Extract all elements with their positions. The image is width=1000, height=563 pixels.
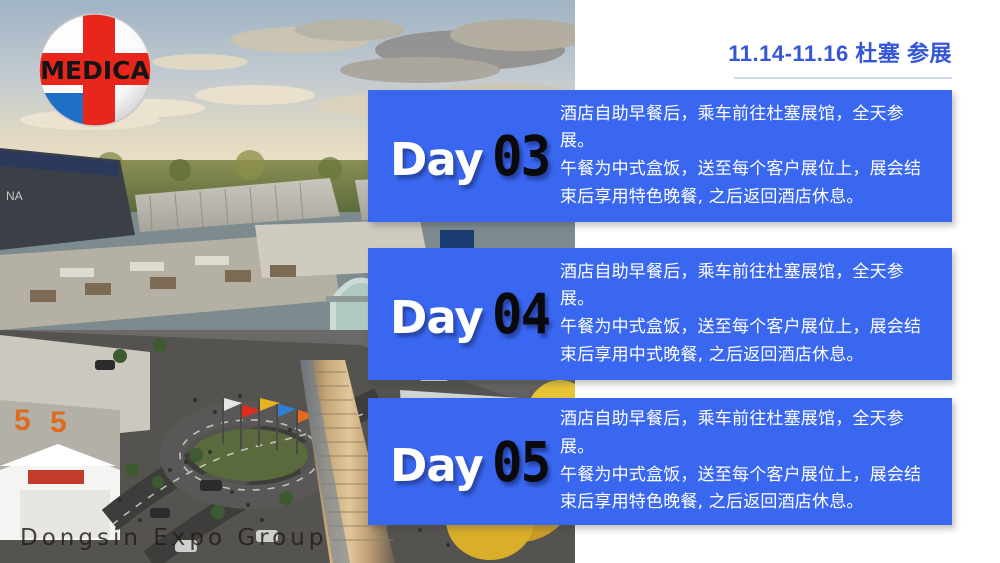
day-description: 酒店自助早餐后，乘车前往杜塞展馆，全天参展。 午餐为中式盒饭，送至每个客户展位上… [560, 101, 952, 211]
day-number: 05 [492, 430, 549, 494]
svg-text:5: 5 [14, 404, 31, 437]
day-number: 03 [492, 124, 549, 188]
day-card[interactable]: Day 03 酒店自助早餐后，乘车前往杜塞展馆，全天参展。 午餐为中式盒饭，送至… [368, 90, 952, 222]
day-label: Day 04 [368, 282, 560, 346]
header-divider [734, 77, 952, 79]
day-description-line: 午餐为中式盒饭，送至每个客户展位上，展会结 [560, 156, 930, 184]
header: 11.14-11.16 杜塞 参展 [728, 36, 952, 79]
day-description-line: 酒店自助早餐后，乘车前往杜塞展馆，全天参展。 [560, 101, 930, 156]
day-label: Day 03 [368, 124, 560, 188]
day-description: 酒店自助早餐后，乘车前往杜塞展馆，全天参展。 午餐为中式盒饭，送至每个客户展位上… [560, 406, 952, 516]
day-description-line: 束后享用特色晚餐, 之后返回酒店休息。 [560, 489, 930, 517]
header-title: 11.14-11.16 杜塞 参展 [728, 36, 952, 68]
day-description: 酒店自助早餐后，乘车前往杜塞展馆，全天参展。 午餐为中式盒饭，送至每个客户展位上… [560, 259, 952, 369]
day-word: Day [390, 439, 483, 492]
day-description-line: 束后享用中式晚餐, 之后返回酒店休息。 [560, 342, 930, 370]
medica-logo: MEDICA [21, 11, 169, 129]
svg-text:5: 5 [50, 406, 67, 439]
day-label: Day 05 [368, 430, 560, 494]
day-description-line: 午餐为中式盒饭，送至每个客户展位上，展会结 [560, 462, 930, 490]
day-card[interactable]: Day 05 酒店自助早餐后，乘车前往杜塞展馆，全天参展。 午餐为中式盒饭，送至… [368, 398, 952, 525]
day-description-line: 酒店自助早餐后，乘车前往杜塞展馆，全天参展。 [560, 406, 930, 461]
svg-text:NA: NA [6, 189, 23, 203]
day-card[interactable]: Day 04 酒店自助早餐后，乘车前往杜塞展馆，全天参展。 午餐为中式盒饭，送至… [368, 248, 952, 380]
day-description-line: 束后享用特色晚餐, 之后返回酒店休息。 [560, 184, 930, 212]
day-description-line: 午餐为中式盒饭，送至每个客户展位上，展会结 [560, 314, 930, 342]
day-number: 04 [492, 282, 549, 346]
day-description-line: 酒店自助早餐后，乘车前往杜塞展馆，全天参展。 [560, 259, 930, 314]
slide-root: NA [0, 0, 1000, 563]
day-word: Day [390, 291, 483, 344]
medica-logo-text: MEDICA [40, 56, 150, 85]
day-word: Day [390, 133, 483, 186]
